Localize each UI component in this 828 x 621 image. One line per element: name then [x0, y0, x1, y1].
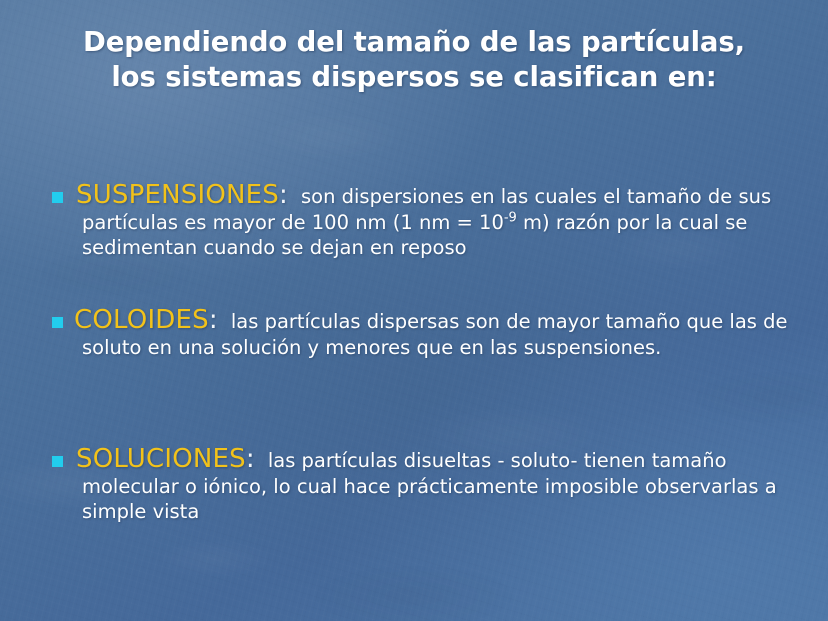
- bullet-colon-coloides: :: [209, 305, 218, 335]
- slide-content: Dependiendo del tamaño de las partículas…: [0, 0, 828, 621]
- square-bullet-icon: [52, 456, 63, 467]
- presentation-slide: Dependiendo del tamaño de las partículas…: [0, 0, 828, 621]
- bullet-item-soluciones: SOLUCIONES: las partículas disueltas - s…: [52, 447, 804, 525]
- square-bullet-icon: [52, 192, 63, 203]
- bullet-text-coloides: COLOIDES: las partículas dispersas son d…: [52, 308, 804, 360]
- bullet-item-suspensiones: SUSPENSIONES: son dispersiones en las cu…: [52, 183, 804, 261]
- bullet-superscript-exponent: -9: [504, 210, 517, 225]
- bullet-colon-suspensiones: :: [279, 180, 288, 210]
- square-bullet-icon: [52, 317, 63, 328]
- bullet-text-soluciones: SOLUCIONES: las partículas disueltas - s…: [52, 447, 804, 525]
- slide-title-line-2: los sistemas dispersos se clasifican en:: [0, 60, 828, 95]
- bullet-keyword-coloides: COLOIDES: [74, 305, 209, 335]
- bullet-colon-soluciones: :: [246, 444, 255, 474]
- bullet-keyword-soluciones: SOLUCIONES: [76, 444, 246, 474]
- bullet-text-suspensiones: SUSPENSIONES: son dispersiones en las cu…: [52, 183, 804, 261]
- bullet-item-coloides: COLOIDES: las partículas dispersas son d…: [52, 308, 804, 360]
- slide-title-line-1: Dependiendo del tamaño de las partículas…: [0, 25, 828, 60]
- bullet-keyword-suspensiones: SUSPENSIONES: [76, 180, 279, 210]
- slide-title: Dependiendo del tamaño de las partículas…: [0, 25, 828, 95]
